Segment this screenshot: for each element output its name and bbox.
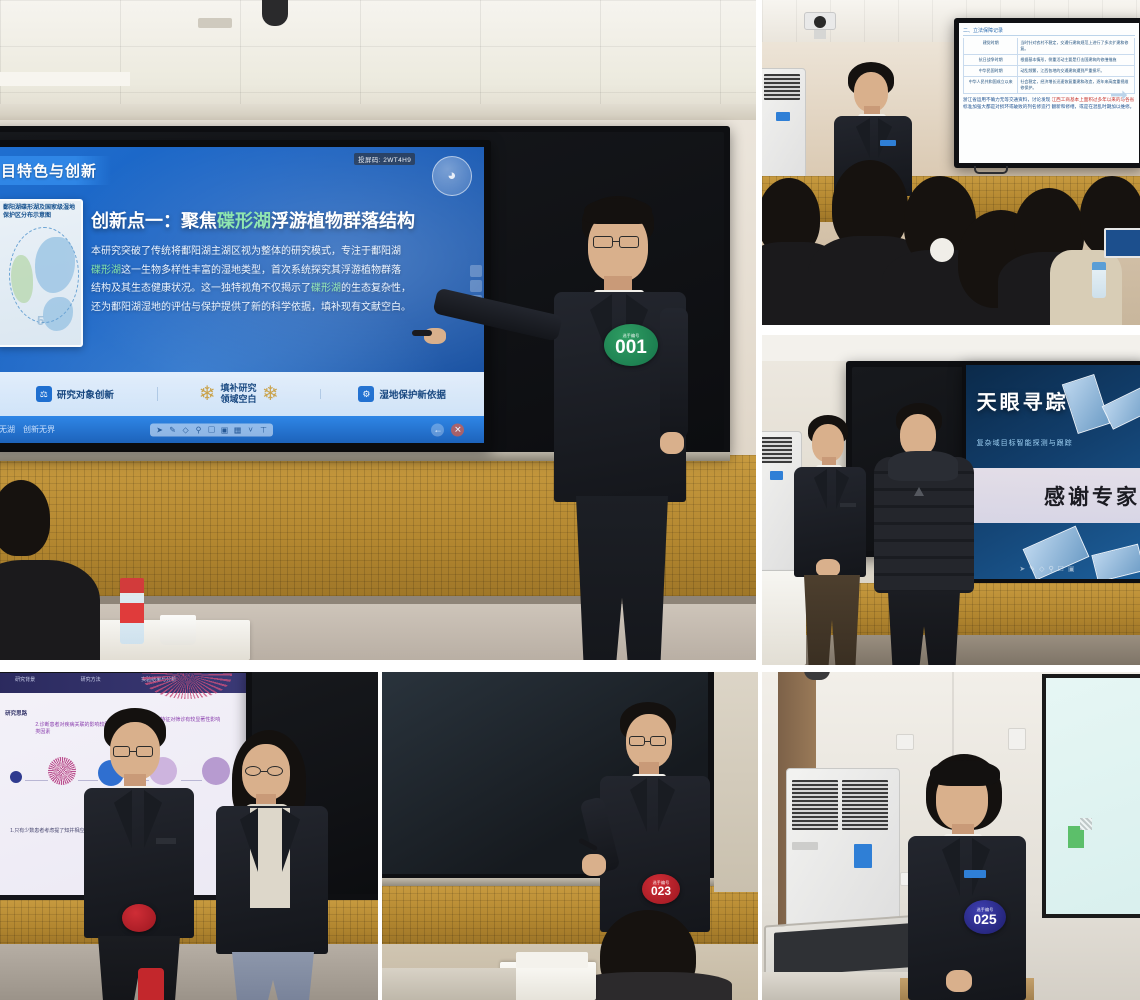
zoom-tool-icon[interactable]: ⚲	[194, 425, 203, 434]
text-tool-icon[interactable]: ⊤	[259, 425, 268, 434]
ceiling-speaker-icon	[198, 18, 232, 28]
pair-male-glasses-right	[136, 746, 153, 757]
bottle-label	[120, 603, 144, 623]
audience-jacket-beige	[1050, 250, 1122, 325]
pair-male-glasses-bridge	[130, 751, 136, 752]
hair-scrunchie	[930, 238, 954, 262]
slide-title-pre: 创新点一：聚焦	[91, 211, 217, 231]
ceiling-light	[0, 72, 130, 86]
presenter-023-glasses-left	[629, 736, 645, 746]
frame-tool-icon[interactable]: ☐	[1058, 565, 1064, 573]
arrow-cue-icon: ➞	[1110, 82, 1128, 108]
blackboard-tool-icon[interactable]: ▣	[220, 425, 229, 434]
map-boundary-ring	[9, 227, 79, 323]
wetland-protect-icon: ⚙	[358, 386, 374, 402]
slide-nav-controls[interactable]: ← ✕	[431, 423, 464, 436]
ceiling-grid	[0, 0, 756, 120]
slide-toolbar-3[interactable]: ➤ ✎ ◇ ⚲ ☐ ▣	[1019, 565, 1074, 573]
thanks-slide-subtitle: 复杂域目标智能探测与跟踪	[977, 438, 1073, 448]
chevron-down-icon[interactable]: ˅	[246, 425, 255, 434]
frame-tool-icon[interactable]: ☐	[207, 425, 216, 434]
slide-footer-item-1: ⚖ 研究对象创新	[0, 386, 157, 402]
presenter-023-glasses-bridge	[645, 741, 650, 742]
student-suit-person	[792, 415, 878, 665]
microphone-prop	[138, 968, 164, 1000]
slide-map-thumbnail: 鄱阳湖碟形湖及国家级湿地保护区分布示意图 5	[0, 199, 83, 347]
female-presenter-badge: 选手编号 025	[964, 900, 1006, 934]
female-presenter-person: 选手编号 025	[902, 754, 1038, 1000]
female-presenter-bangs	[930, 760, 1000, 786]
cursor-tool-icon[interactable]: ➤	[155, 425, 164, 434]
panel-main-presentation: 目特色与创新 投屏码: 2WT4H9 ◕ 鄱阳湖碟形湖及国家级湿地保护区分布示意…	[0, 0, 756, 660]
audience-water-bottle	[1092, 262, 1106, 298]
panel-presenter-023: 选手编号 023	[382, 672, 758, 1000]
thanks-slide-band-text: 感谢专家	[1044, 481, 1140, 511]
ceiling-beam	[0, 104, 756, 120]
flow-slide-tab-1[interactable]: 研究背景	[15, 676, 35, 683]
projector-screen-frame	[1042, 674, 1140, 918]
table-row: 建党时期 当时针对农村不稳定，交通行建筑规范上进行了多次扩建和修复。	[963, 38, 1135, 55]
slide-footer-label-2: 填补研究 领域空白	[221, 383, 257, 406]
bottle-cap	[1092, 262, 1106, 270]
slide-body: 本研究突破了传统将鄱阳湖主湖区视为整体的研究模式，专注于鄱阳湖 碟形湖这一生物多…	[91, 243, 471, 317]
flow-slide-header: 研究思路	[5, 709, 27, 717]
table-cell-detail: 动乱频繁，江西各地的交通建筑遭到严重损坏。	[1018, 66, 1134, 76]
air-conditioner-vent-3	[762, 437, 792, 463]
flow-slide-header-arc	[142, 673, 232, 699]
presenter-2-pocket-badge	[880, 140, 896, 146]
presenter-right-hand	[660, 432, 684, 454]
pair-female-glasses-right	[267, 766, 283, 776]
research-target-icon: ⚖	[36, 386, 52, 402]
presenter-badge-001: 选手编号 001	[604, 324, 658, 366]
table-note-line-1: 浙江省运用不确力无等交通资料，讨论发现	[963, 97, 1050, 102]
foreground-shoulder-5	[572, 972, 732, 1000]
paper-cup	[160, 615, 196, 645]
slide-footer-label-2-line-2: 领域空白	[221, 394, 257, 404]
air-conditioner-vent-2	[764, 74, 800, 100]
ceiling-camera-2-icon	[804, 12, 836, 30]
student-puffer-trousers	[888, 591, 960, 665]
laurel-icon-left: ❄	[199, 384, 216, 404]
slide-body-line-3: 结构及其生态健康状况。这一独特视角不仅揭示了	[91, 283, 311, 294]
share-code-label: 投屏码: 2WT4H9	[354, 153, 415, 165]
air-conditioner-brand-label	[792, 842, 818, 850]
map-scale-number: 5	[37, 313, 44, 328]
badge-label: 选手编号	[653, 881, 670, 885]
slide-footer: ⚖ 研究对象创新 ❄ 填补研究 领域空白 ❄ ⚙ 湿地保护新依据	[0, 372, 484, 416]
badge-number: 001	[615, 338, 647, 357]
panel-female-presenter: 选手编号 025	[762, 672, 1140, 1000]
slide-body-line-5: 还为鄱阳湖湿地的评估与保护提供了新的科学依据，填补现有文献空白。	[91, 302, 411, 313]
flow-slide-tab-2[interactable]: 研究方法	[81, 676, 101, 683]
badge-number: 023	[651, 885, 671, 897]
pair-male-badge	[122, 904, 156, 932]
slide-title-post: 浮游植物群落结构	[271, 211, 415, 231]
water-bottle	[120, 578, 144, 644]
pair-female-person	[214, 730, 350, 1000]
presenter-person: 选手编号 001	[520, 196, 730, 660]
wall-socket-1	[896, 734, 914, 750]
pair-male-pocket-square	[156, 838, 176, 844]
display-screen-3[interactable]: 天眼寻踪 复杂域目标智能探测与跟踪 感谢专家 ➤ ✎ ◇ ⚲ ☐ ▣	[962, 361, 1140, 583]
slide-footer-item-2: ❄ 填补研究 领域空白 ❄	[157, 383, 321, 406]
ppt-presenter-toolbar[interactable]: ➤ ✎ ◇ ⚲ ☐ ▣ ▦ ˅ ⊤	[150, 423, 273, 436]
pen-tool-icon[interactable]: ✎	[1029, 565, 1035, 573]
table-slide-title: 二、立法保障记录	[963, 27, 1135, 36]
table-row: 中华民国时期 动乱频繁，江西各地的交通建筑遭到严重损坏。	[963, 66, 1135, 77]
slide-bottom-tag: 无湖 创新无界	[0, 424, 55, 435]
back-arrow-icon[interactable]: ←	[431, 423, 444, 436]
glasses-right-lens	[619, 236, 639, 248]
camera-mount-2	[814, 30, 826, 39]
table-cell-period: 建党时期	[964, 38, 1018, 54]
interactive-display[interactable]: 目特色与创新 投屏码: 2WT4H9 ◕ 鄱阳湖碟形湖及国家级湿地保护区分布示意…	[0, 140, 491, 450]
table-slide-screen: 二、立法保障记录 建党时期 当时针对农村不稳定，交通行建筑规范上进行了多次扩建和…	[959, 23, 1139, 163]
table-cell-period: 中华人民共和国成立以来	[964, 77, 1018, 93]
slide-surface: 目特色与创新 投屏码: 2WT4H9 ◕ 鄱阳湖碟形湖及国家级湿地保护区分布示意…	[0, 147, 484, 443]
table-cell-detail: 当时针对农村不稳定，交通行建筑规范上进行了多次扩建和修复。	[1018, 38, 1134, 54]
thanks-slide: 天眼寻踪 复杂域目标智能探测与跟踪 感谢专家 ➤ ✎ ◇ ⚲ ☐ ▣	[966, 365, 1140, 579]
satellite-graphic-icon	[1062, 374, 1110, 434]
eraser-tool-icon[interactable]: ◇	[181, 425, 190, 434]
slide-bottom-bar: 无湖 创新无界 ➤ ✎ ◇ ⚲ ☐ ▣ ▦ ˅ ⊤ ← ✕	[0, 416, 484, 443]
panel-audience-view: 二、立法保障记录 建党时期 当时针对农村不稳定，交通行建筑规范上进行了多次扩建和…	[762, 0, 1140, 325]
slide-body-highlight-2: 碟形湖	[311, 283, 341, 294]
presenter-023-glasses-right	[650, 736, 666, 746]
presenter-trousers	[576, 496, 668, 660]
table-note-line-3: 标准加强大都是对损环或破败的列名修造行	[963, 104, 1050, 109]
cursor-tool-icon[interactable]: ➤	[1019, 565, 1025, 573]
slide-footer-item-3: ⚙ 湿地保护新依据	[320, 386, 484, 402]
presenter-hair-top	[584, 198, 652, 224]
air-conditioner-badge-3	[770, 471, 783, 480]
table-slide: 二、立法保障记录 建党时期 当时针对农村不稳定，交通行建筑规范上进行了多次扩建和…	[959, 23, 1139, 163]
blackboard-tool-icon[interactable]: ▣	[1068, 565, 1075, 573]
presenter-right-arm	[660, 308, 688, 438]
pair-female-jeans	[232, 952, 314, 1000]
student-suit-trousers	[804, 575, 860, 665]
pair-male-person	[82, 708, 218, 1000]
air-conditioner-badge-2	[776, 112, 790, 121]
projector-screen-surface	[1046, 678, 1140, 914]
side-monitor	[1104, 228, 1140, 258]
presenter-023-hand	[582, 854, 606, 876]
pen-tool-icon[interactable]: ✎	[168, 425, 177, 434]
flow-node-1	[10, 771, 22, 783]
table-cell-detail: 根据基本情形，侧重活动主要是打击国建筑的修缮措施	[1018, 55, 1134, 65]
female-presenter-pocket-badge	[964, 870, 986, 878]
student-puffer-head	[900, 414, 936, 456]
slide-footer-label-3: 湿地保护新依据	[379, 387, 446, 401]
eraser-tool-icon[interactable]: ◇	[1039, 565, 1044, 573]
organization-logo-icon: ◕	[432, 156, 472, 196]
presenter-023-person: 选手编号 023	[594, 702, 744, 932]
screen-handle-2	[974, 166, 1008, 174]
slide-footer-label-2-line-1: 填补研究	[221, 383, 257, 393]
solar-panel-icon-2	[1091, 544, 1140, 579]
flow-connector-1	[25, 780, 48, 781]
zoom-tool-icon[interactable]: ⚲	[1049, 565, 1054, 573]
slide-header: 目特色与创新	[0, 156, 111, 185]
slide-title-highlight: 碟形湖	[217, 211, 271, 231]
air-conditioner-badge-6	[854, 844, 872, 868]
slide-map-caption: 鄱阳湖碟形湖及国家级湿地保护区分布示意图	[0, 201, 81, 220]
paper-stack-2	[516, 952, 588, 968]
ceiling-3	[762, 335, 1140, 361]
air-conditioner-vent-6a	[792, 780, 838, 830]
slide-body-line-4: 的生态复杂性，	[341, 283, 411, 294]
wall-socket-2	[1008, 728, 1026, 750]
table-cell-period: 中华民国时期	[964, 66, 1018, 76]
student-suit-pocket-square	[840, 503, 856, 507]
bottle-cap	[120, 578, 144, 593]
slide-footer-label-1: 研究对象创新	[57, 387, 114, 401]
badge-number: 025	[973, 912, 996, 926]
display-screen-2: 二、立法保障记录 建党时期 当时针对农村不稳定，交通行建筑规范上进行了多次扩建和…	[954, 18, 1140, 168]
glasses-bridge	[613, 241, 619, 242]
badge-label: 选手编号	[623, 334, 640, 338]
screen-icon-placeholder	[1080, 818, 1092, 830]
presenter-023-badge: 选手编号 023	[642, 874, 680, 904]
student-puffer-person	[874, 403, 984, 665]
thanks-slide-title: 天眼寻踪	[977, 386, 1069, 415]
desk-foreground-5	[382, 968, 516, 1000]
table-row: 抗日战争时期 根据基本情形，侧重活动主要是打击国建筑的修缮措施	[963, 55, 1135, 66]
student-suit-hands	[816, 559, 840, 577]
slide-tool-icon[interactable]: ▦	[233, 425, 242, 434]
slide-body-highlight-1: 碟形湖	[91, 265, 121, 276]
flow-node-2	[48, 757, 76, 785]
panel-two-students-thanks: 天眼寻踪 复杂域目标智能探测与跟踪 感谢专家 ➤ ✎ ◇ ⚲ ☐ ▣	[762, 335, 1140, 665]
end-show-icon[interactable]: ✕	[451, 423, 464, 436]
female-presenter-hand	[946, 970, 972, 992]
presenter-pointer-device	[412, 330, 432, 336]
badge-label: 选手编号	[977, 908, 994, 912]
panel-pair-presenters: 研究背景 研究方法 实验结果与分析 研究思路 2.诊断患者对疾病关联的影响较明显…	[0, 672, 378, 1000]
table-cell-period: 抗日战争时期	[964, 55, 1018, 65]
air-conditioner-vent-6b	[842, 780, 888, 830]
pair-female-glasses-left	[245, 766, 261, 776]
slide-body-line-2: 这一生物多样性丰富的湿地类型，首次系统探究其浮游植物群落	[121, 265, 401, 276]
photo-collage: 目特色与创新 投屏码: 2WT4H9 ◕ 鄱阳湖碟形湖及国家级湿地保护区分布示意…	[0, 0, 1140, 1000]
ceiling-camera-icon	[262, 0, 288, 26]
foreground-audience-shoulder	[0, 560, 100, 660]
student-puffer-hood	[888, 451, 958, 481]
slide-body-line-1: 本研究突破了传统将鄱阳湖主湖区视为整体的研究模式，专注于鄱阳湖	[91, 246, 401, 257]
pair-male-glasses-left	[113, 746, 130, 757]
glasses-left-lens	[593, 236, 613, 248]
pair-female-glasses-bridge	[261, 771, 267, 772]
slide-title: 创新点一：聚焦碟形湖浮游植物群落结构	[91, 207, 415, 233]
laurel-icon-right: ❄	[262, 384, 279, 404]
camera-lens-icon	[814, 16, 826, 28]
thanks-slide-band: 感谢专家	[966, 468, 1140, 524]
